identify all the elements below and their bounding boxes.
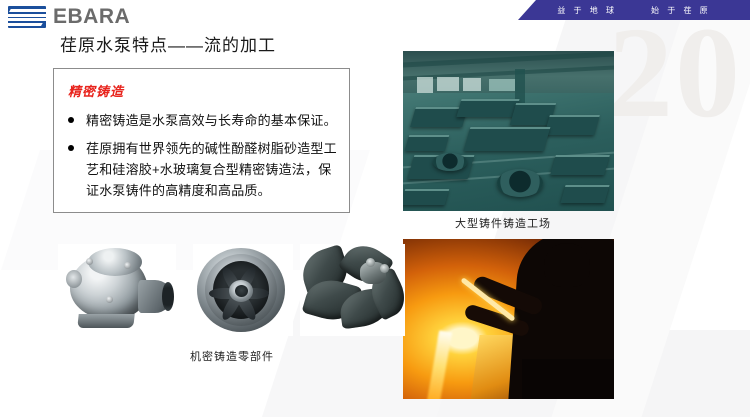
slide-canvas: 20 益 于 地 球 始 于 荏 原 EBARA 荏原水泵特点——流的加工 精密… xyxy=(0,0,750,417)
bullet-list: 精密铸造是水泵高效与长寿命的基本保证。 荏原拥有世界领先的碱性酚醛树脂砂造型工艺… xyxy=(66,110,337,201)
list-item: 荏原拥有世界领先的碱性酚醛树脂砂造型工艺和硅溶胶+水玻璃复合型精密铸造法，保证水… xyxy=(66,138,337,201)
pump-volute-casing-photo xyxy=(58,244,176,336)
list-item-text: 荏原拥有世界领先的碱性酚醛树脂砂造型工艺和硅溶胶+水玻璃复合型精密铸造法，保证水… xyxy=(86,141,337,198)
content-textbox: 精密铸造 精密铸造是水泵高效与长寿命的基本保证。 荏原拥有世界领先的碱性酚醛树脂… xyxy=(53,68,350,213)
slide-number-watermark: 20 xyxy=(608,8,742,138)
list-item-text: 精密铸造是水泵高效与长寿命的基本保证。 xyxy=(86,113,337,128)
page-title: 荏原水泵特点——流的加工 xyxy=(60,31,276,56)
mixed-flow-impeller-photo xyxy=(300,244,405,336)
ebara-wave-logo-icon xyxy=(8,6,46,28)
workshop-caption: 大型铸件铸造工场 xyxy=(455,215,551,231)
slogan-left: 益 于 地 球 xyxy=(557,5,617,16)
bullet-dot-icon xyxy=(68,117,74,123)
ebara-logo: EBARA xyxy=(8,5,130,29)
molten-metal-pouring-photo xyxy=(403,239,614,399)
parts-caption: 机密铸造零部件 xyxy=(190,348,274,364)
textbox-heading: 精密铸造 xyxy=(68,81,337,100)
slogan-right: 始 于 荏 原 xyxy=(651,5,711,16)
list-item: 精密铸造是水泵高效与长寿命的基本保证。 xyxy=(66,110,337,131)
logo-wordmark: EBARA xyxy=(53,5,130,29)
foundry-workshop-photo xyxy=(403,51,614,211)
brand-slogan-banner: 益 于 地 球 始 于 荏 原 xyxy=(518,0,750,20)
pump-impeller-photo xyxy=(193,244,293,336)
bullet-dot-icon xyxy=(68,145,74,151)
